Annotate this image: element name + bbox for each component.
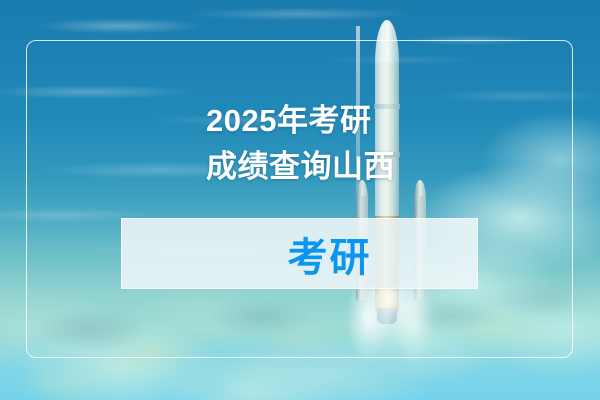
headline-text: 2025年考研 成绩查询山西 xyxy=(206,98,526,190)
keyword-band: 考研 xyxy=(121,218,478,289)
banner-image: 2025年考研 成绩查询山西 考研 xyxy=(0,0,600,400)
keyword-label: 考研 xyxy=(288,225,372,283)
engine-exhaust-plume xyxy=(330,288,450,400)
rocket-nose-cone xyxy=(375,20,399,66)
cirrus-clouds xyxy=(0,0,600,400)
